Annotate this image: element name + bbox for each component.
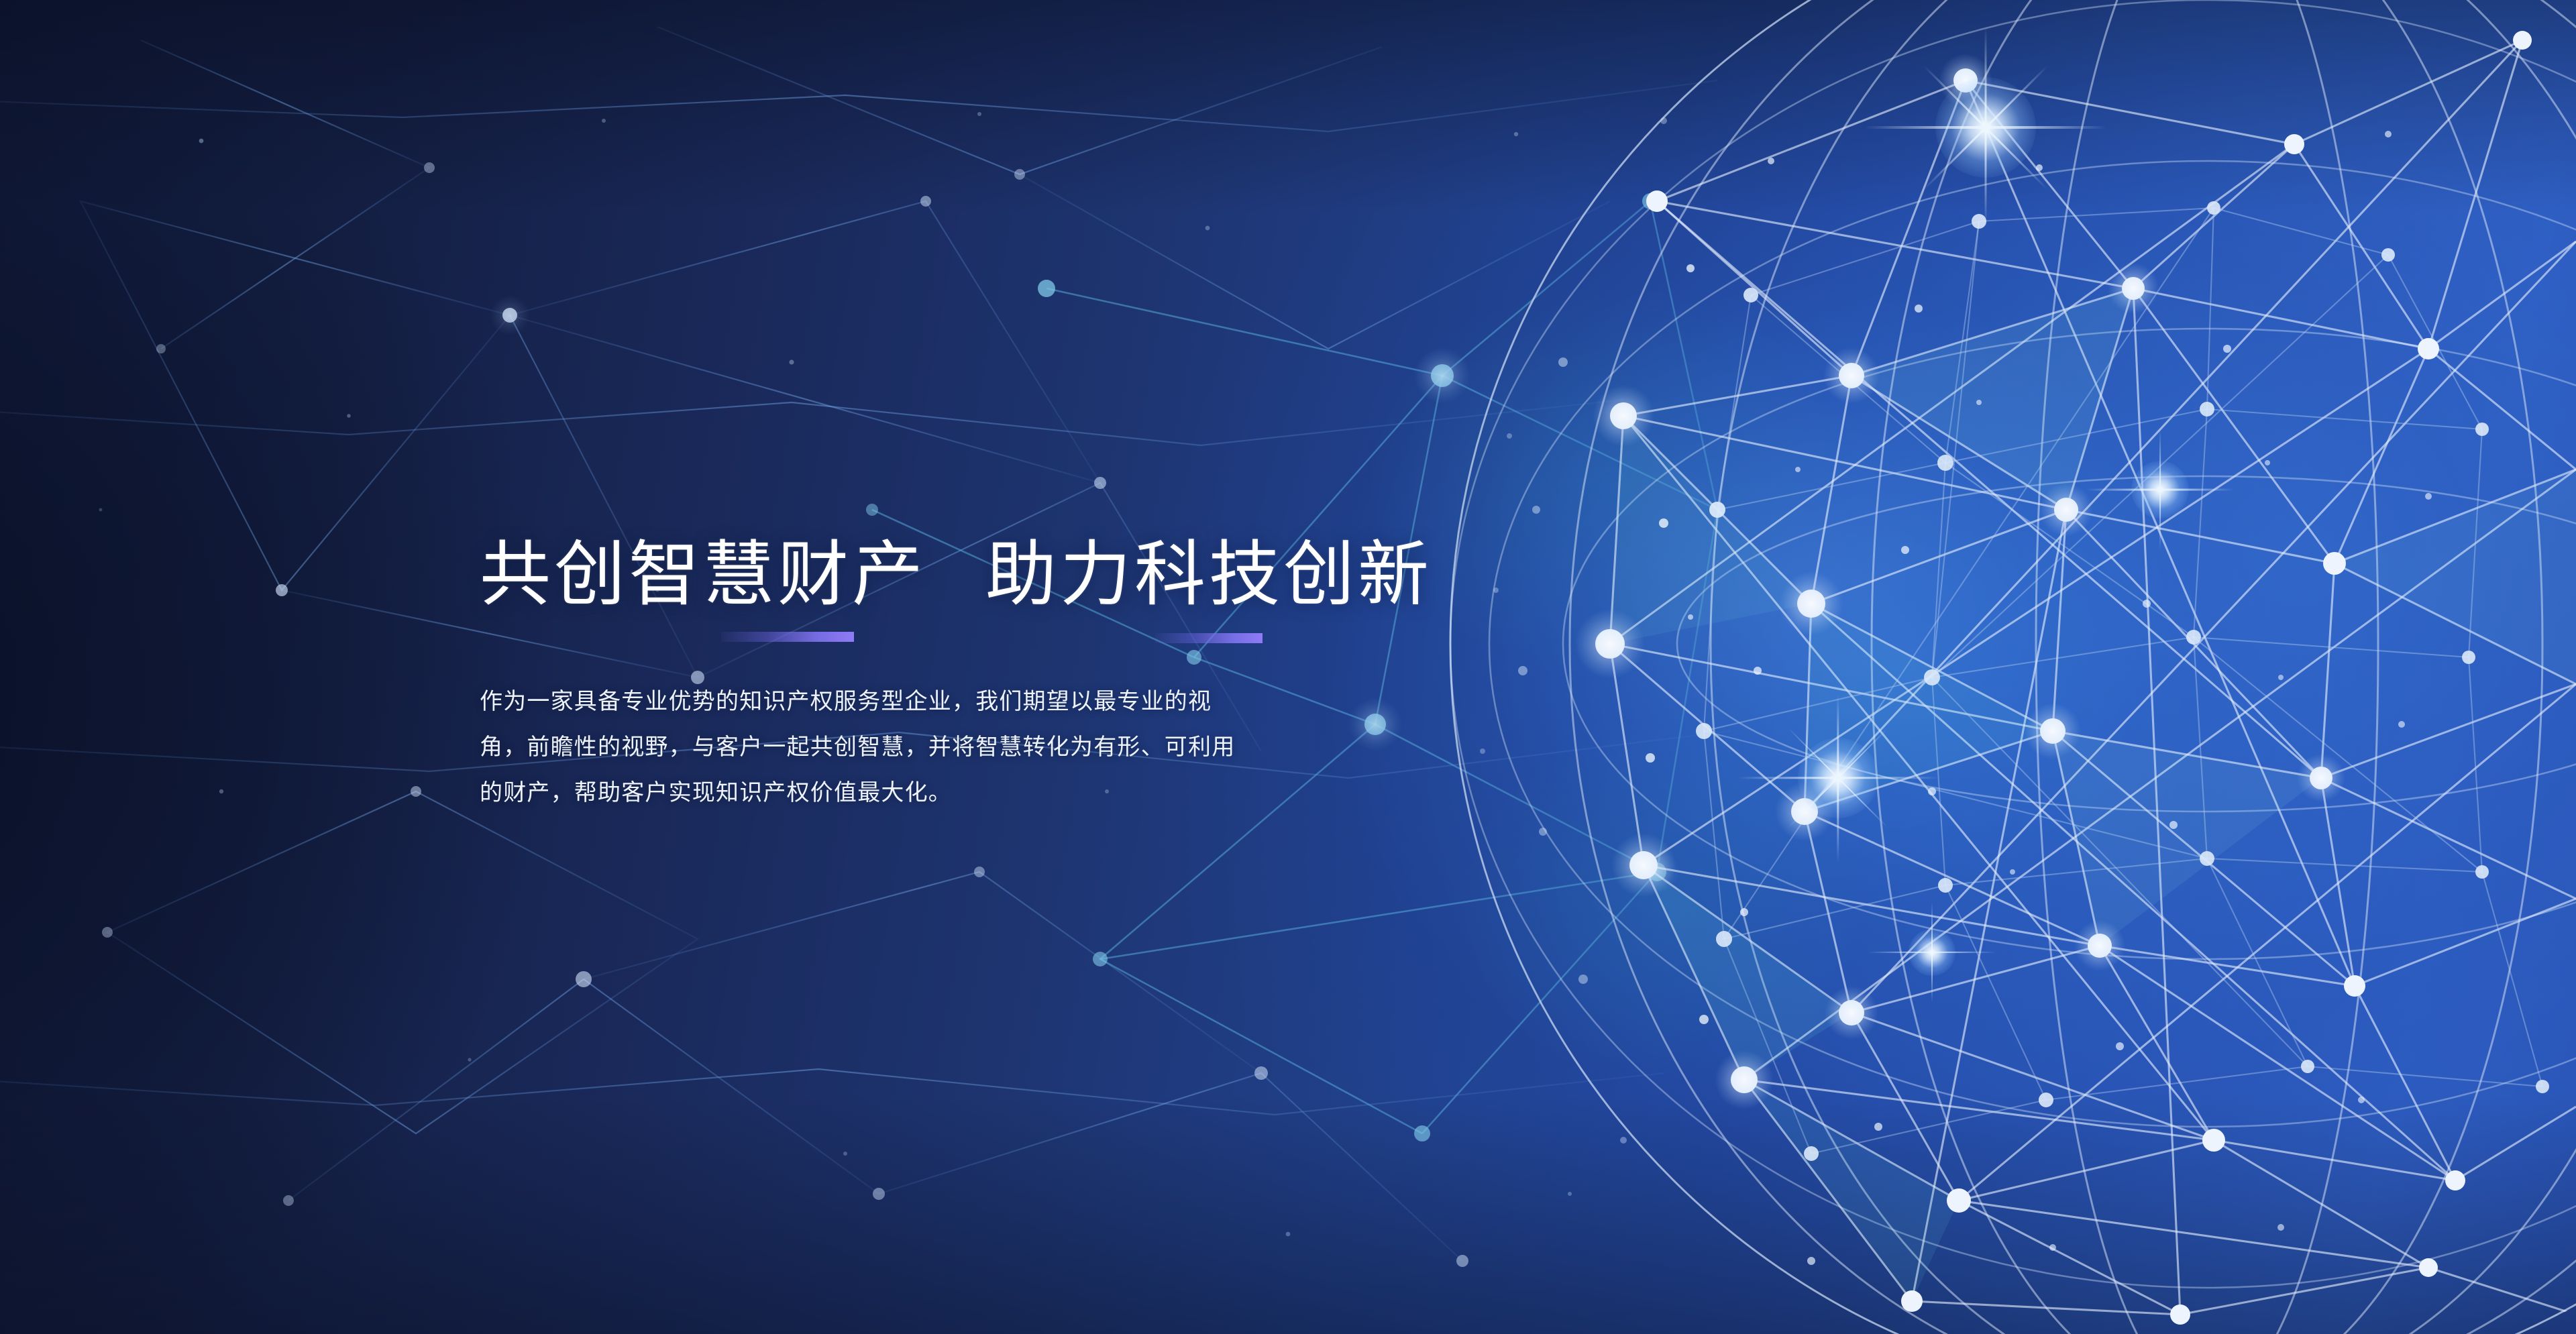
headline-accent-bar-one xyxy=(721,632,854,642)
hero-banner: 共创智慧财产 助力科技创新 作为一家具备专业优势的知识产权服务型企业，我们期望以… xyxy=(0,0,2576,1334)
lens-flare-star-upper-right xyxy=(2086,416,2234,563)
lens-flare-star-lower xyxy=(1868,889,1996,1016)
headline-segment-two-text: 助力科技创新 xyxy=(985,535,1432,614)
lens-flare-star-center xyxy=(1737,677,1939,879)
hero-text-block: 共创智慧财产 助力科技创新 作为一家具备专业优势的知识产权服务型企业，我们期望以… xyxy=(480,535,1499,816)
lens-flare-star-top xyxy=(1865,7,2106,248)
headline-segment-one: 共创智慧财产 xyxy=(480,535,926,615)
hero-headline: 共创智慧财产 助力科技创新 xyxy=(480,535,1499,615)
hero-subcopy: 作为一家具备专业优势的知识产权服务型企业，我们期望以最专业的视角，前瞻性的视野，… xyxy=(480,679,1244,816)
headline-accent-bar-two xyxy=(1155,633,1263,643)
headline-segment-one-text: 共创智慧财产 xyxy=(480,535,926,614)
headline-segment-two: 助力科技创新 xyxy=(985,535,1432,615)
